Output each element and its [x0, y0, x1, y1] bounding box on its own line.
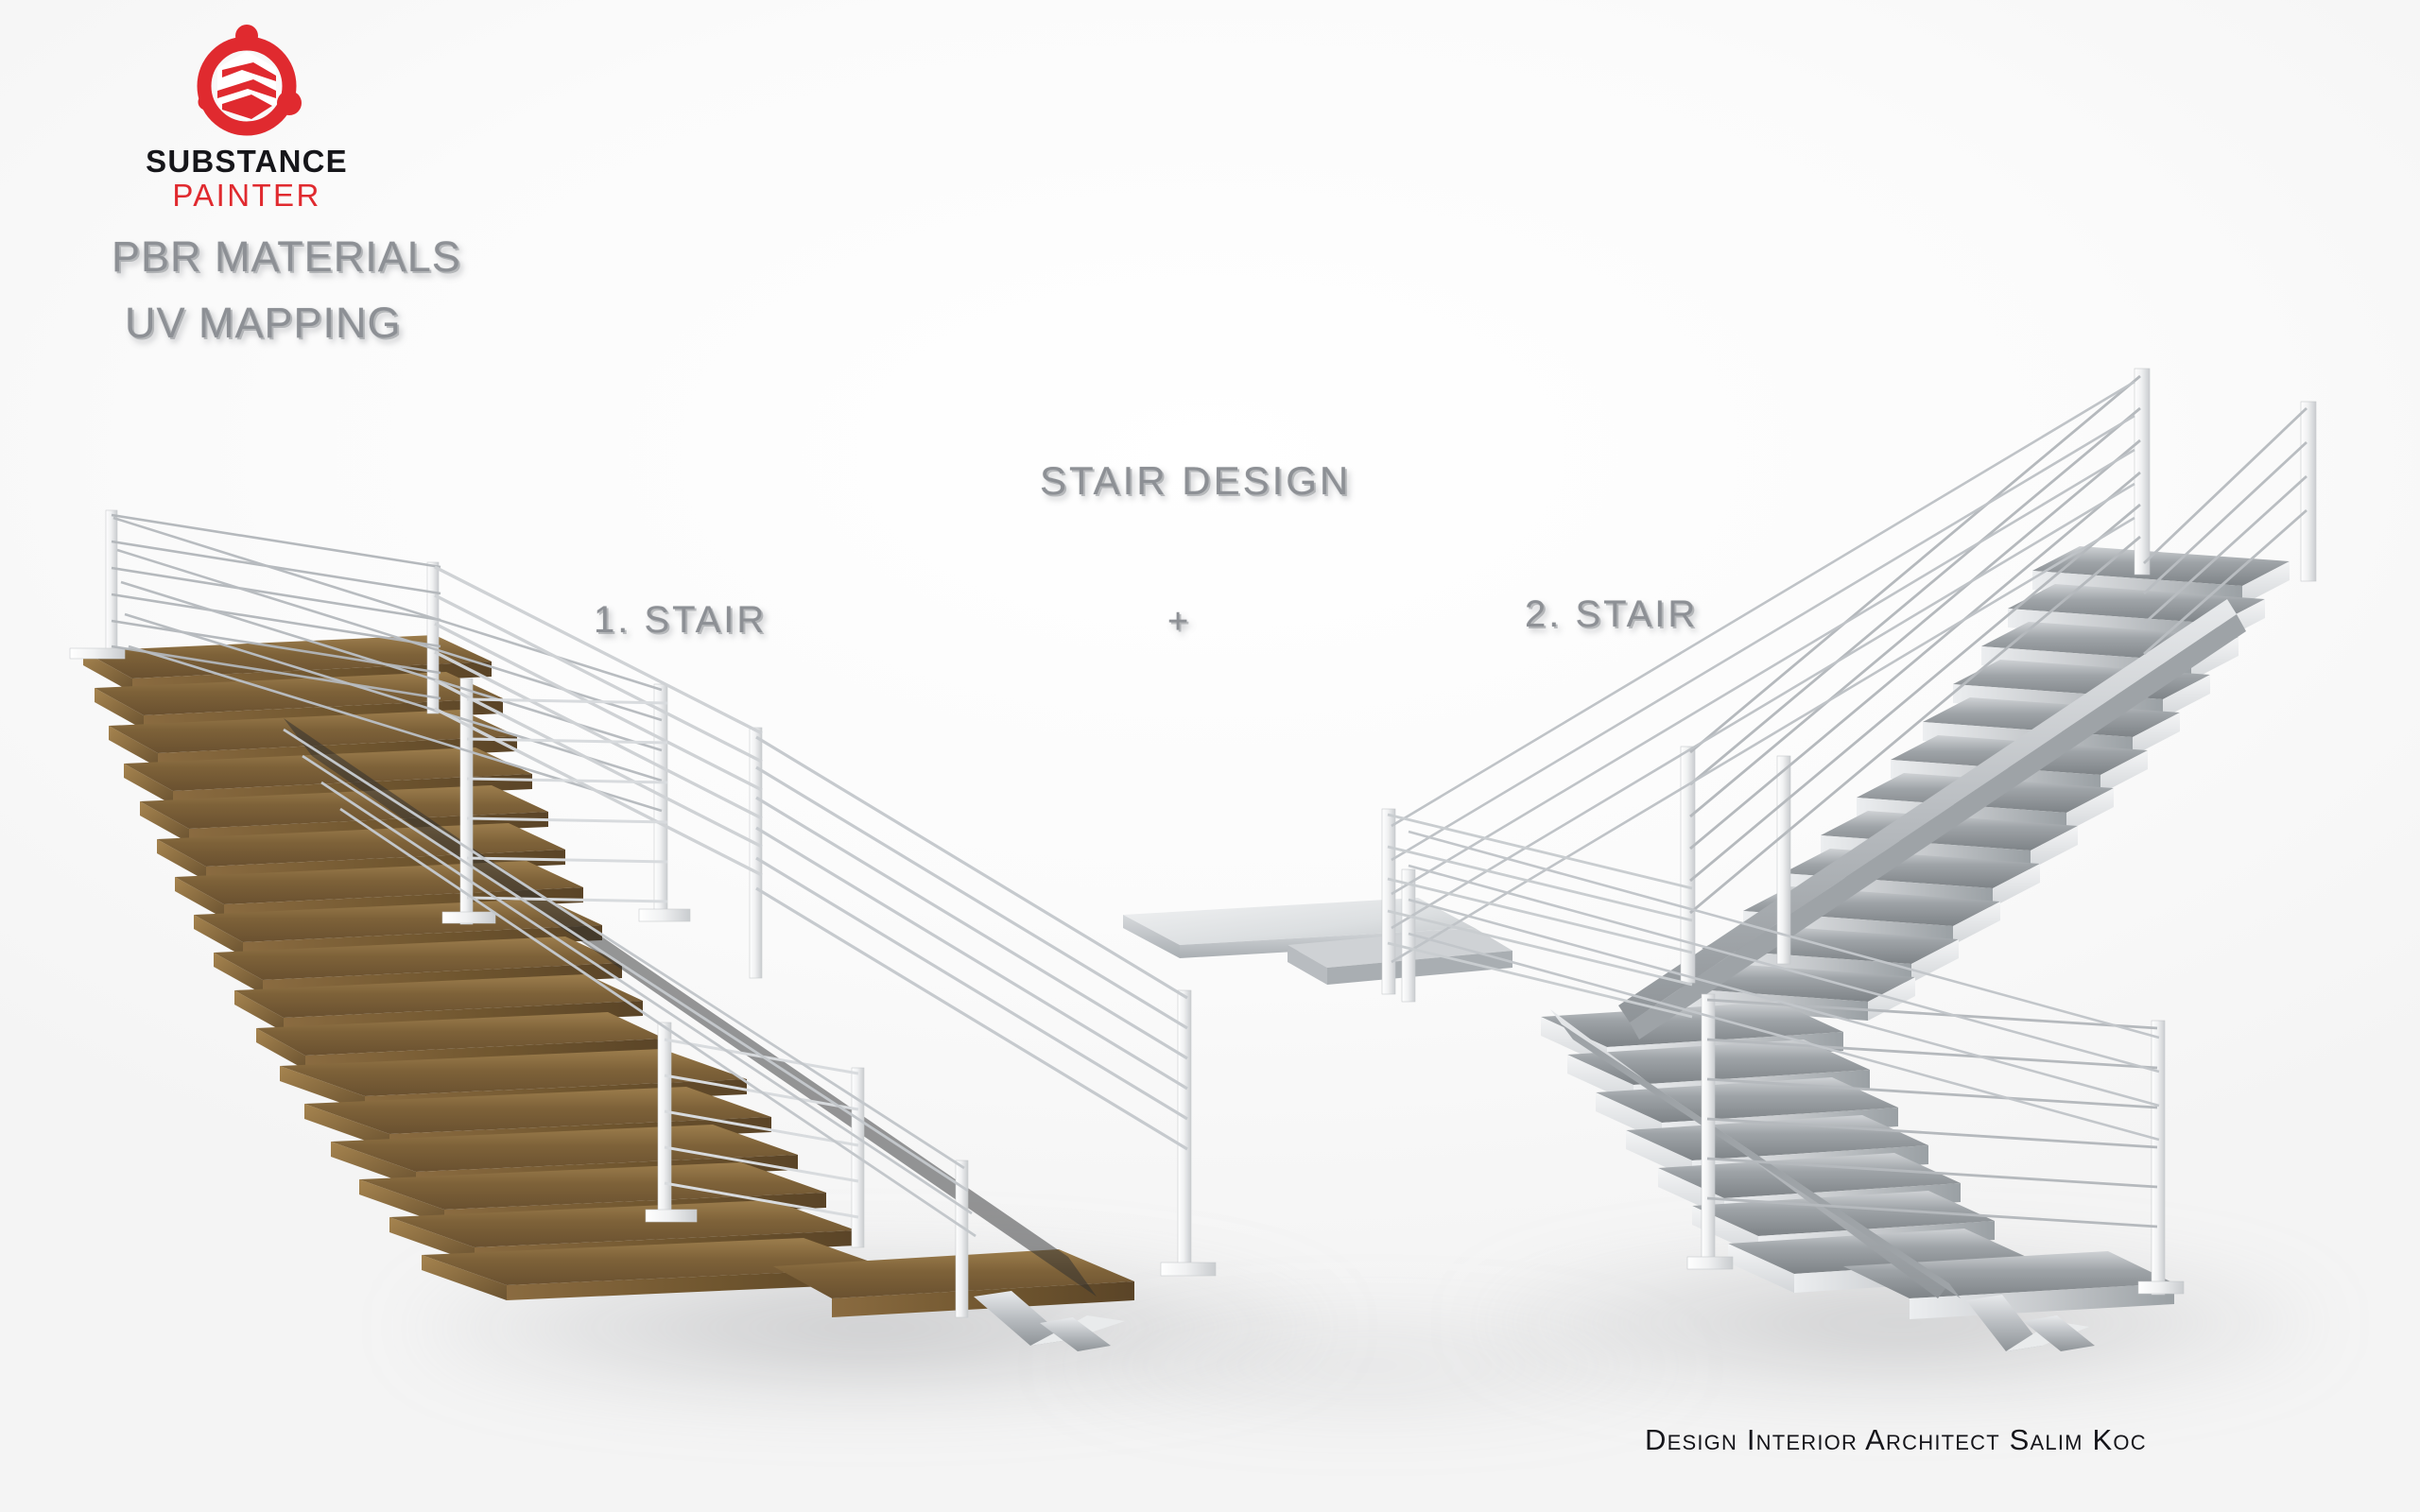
stair-2-base-foot: [1966, 1295, 2095, 1351]
label-stair-1: 1. STAIR: [594, 599, 767, 642]
stair-1-mid-balustrade-2: [665, 1039, 858, 1217]
stair-1-upper-treads: [83, 635, 665, 1070]
stair-1-cables-lower: [284, 730, 976, 1236]
stair-2-posts: [1382, 369, 2316, 1295]
stair-1-stringer: [284, 718, 1097, 1297]
label-stair-2: 2. STAIR: [1525, 593, 1698, 636]
stair-2-stringer-lower: [1550, 1009, 1961, 1298]
stair-2-stringer-upper: [1618, 599, 2246, 1039]
stair-2-cables-upper-near: [2144, 408, 2307, 654]
stair-2-cables-cross: [1409, 832, 2159, 1140]
stair-2-upper-treads: [1658, 546, 2290, 1021]
stair-2-group: [1382, 369, 2316, 1351]
caption-pbr-materials: PBR MATERIALS: [112, 232, 461, 282]
render-canvas: SUBSTANCE PAINTER PBR MATERIALS UV MAPPI…: [0, 0, 2420, 1512]
substance-painter-logo-block: SUBSTANCE PAINTER: [110, 21, 384, 213]
stair-1-mid-balustrade: [467, 699, 667, 902]
designer-credit: Design Interior Architect Salim Koc: [1645, 1423, 2147, 1457]
substance-painter-logo-icon: [110, 21, 384, 144]
stair-2-lower-treads: [1541, 1002, 2174, 1319]
stair-1-rail-near-lower: [756, 737, 1187, 1149]
stair-1-cables-upper-long: [113, 518, 662, 811]
stair-2-cables-upper-far: [1690, 376, 2140, 913]
floor-shadow-left: [406, 1257, 1333, 1399]
logo-wordmark-painter: PAINTER: [110, 180, 384, 213]
page-title: STAIR DESIGN: [1040, 458, 1351, 504]
stair-2-cables-lower: [1707, 1000, 2157, 1227]
mid-landing-platform: [1123, 898, 1512, 985]
stair-2-cables-long: [1391, 382, 2135, 962]
stair-2-landing-balustrade: [1388, 815, 1692, 1017]
logo-wordmark-substance: SUBSTANCE: [110, 146, 384, 177]
stair-1-base-foot: [974, 1291, 1125, 1351]
stair-1-lower-treads: [280, 1049, 1134, 1317]
floor-shadow-center: [1040, 1314, 1702, 1417]
staircase-render: [0, 0, 2420, 1512]
floor-shadow-right: [1475, 1252, 2325, 1394]
stair-1-cables-upper: [112, 515, 441, 698]
plus-separator: +: [1167, 602, 1188, 643]
caption-uv-mapping: UV MAPPING: [125, 299, 402, 348]
